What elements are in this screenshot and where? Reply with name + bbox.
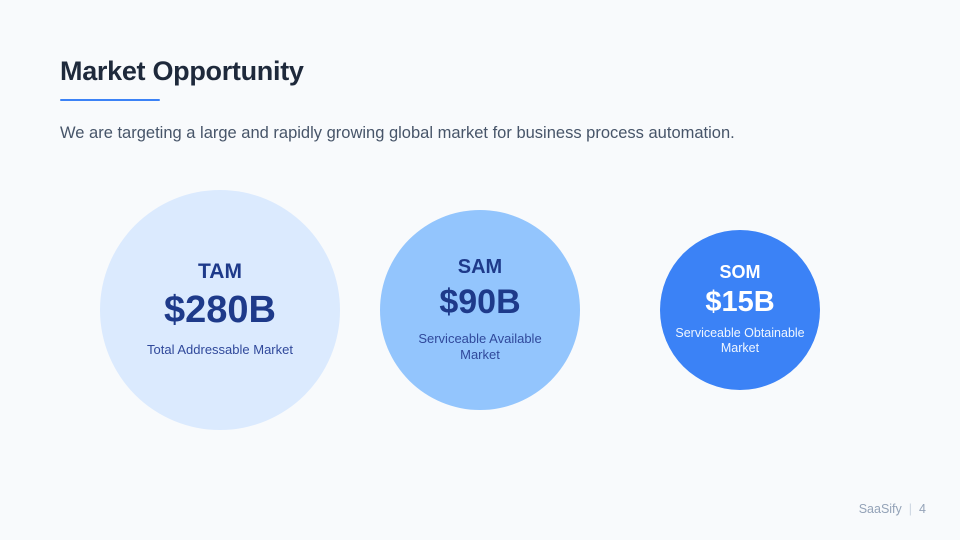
market-circle-som-value: $15B (705, 287, 774, 317)
footer-separator: | (909, 502, 912, 516)
market-circle-som: SOM $15B Serviceable Obtainable Market (660, 230, 820, 390)
market-circle-sam-label: SAM (458, 257, 502, 277)
market-circle-tam-value: $280B (164, 291, 276, 331)
slide-market-opportunity: Market Opportunity We are targeting a la… (0, 0, 960, 540)
market-circle-sam-description: Serviceable Available Market (400, 331, 560, 364)
market-circle-sam-value: $90B (439, 285, 520, 321)
footer-page-number: 4 (919, 502, 926, 516)
slide-footer: SaaSify | 4 (859, 502, 926, 516)
footer-brand: SaaSify (859, 502, 902, 516)
market-size-diagram: TAM $280B Total Addressable Market SAM $… (0, 0, 960, 540)
market-circle-sam: SAM $90B Serviceable Available Market (380, 210, 580, 410)
market-circle-som-label: SOM (719, 263, 760, 281)
market-circle-som-description: Serviceable Obtainable Market (668, 326, 813, 357)
market-circle-tam-description: Total Addressable Market (113, 342, 328, 358)
market-circle-tam: TAM $280B Total Addressable Market (100, 190, 340, 430)
market-circle-tam-label: TAM (198, 261, 242, 282)
